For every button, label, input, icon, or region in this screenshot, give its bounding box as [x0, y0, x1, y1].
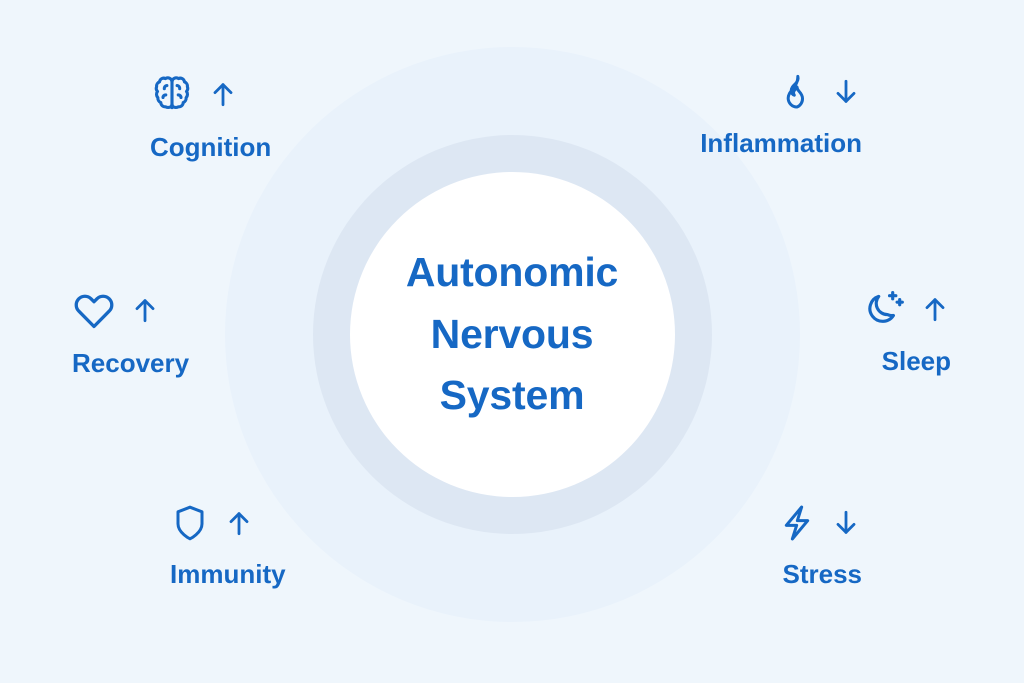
node-immunity-icons [170, 503, 286, 543]
diagram-canvas: Autonomic Nervous System [0, 0, 1024, 683]
node-inflammation-label: Inflammation [645, 128, 862, 159]
node-sleep-label: Sleep [838, 346, 951, 377]
node-stress-label: Stress [770, 559, 862, 590]
lightning-bolt-icon [777, 503, 817, 543]
arrow-up-icon [919, 293, 951, 325]
node-inflammation-icons [645, 72, 862, 112]
arrow-down-icon [830, 507, 862, 539]
node-cognition[interactable]: Cognition [150, 72, 271, 163]
flame-icon [777, 72, 817, 112]
brain-icon [150, 72, 194, 116]
center-title: Autonomic Nervous System [362, 242, 662, 427]
node-immunity-label: Immunity [170, 559, 286, 590]
center-title-line-1: Autonomic [362, 242, 662, 304]
moon-stars-icon [864, 288, 906, 330]
arrow-down-icon [830, 76, 862, 108]
node-sleep-icons [838, 288, 951, 330]
center-title-line-2: Nervous [362, 303, 662, 365]
arrow-up-icon [223, 507, 255, 539]
arrow-up-icon [129, 294, 161, 326]
node-immunity[interactable]: Immunity [170, 503, 286, 590]
heart-icon [72, 288, 116, 332]
center-title-line-3: System [362, 365, 662, 427]
node-stress-icons [770, 503, 862, 543]
node-sleep[interactable]: Sleep [838, 288, 951, 377]
node-cognition-label: Cognition [150, 132, 271, 163]
node-recovery-label: Recovery [72, 348, 189, 379]
node-cognition-icons [150, 72, 271, 116]
node-stress[interactable]: Stress [770, 503, 862, 590]
arrow-up-icon [207, 78, 239, 110]
shield-icon [170, 503, 210, 543]
node-inflammation[interactable]: Inflammation [645, 72, 862, 159]
node-recovery-icons [72, 288, 189, 332]
node-recovery[interactable]: Recovery [72, 288, 189, 379]
